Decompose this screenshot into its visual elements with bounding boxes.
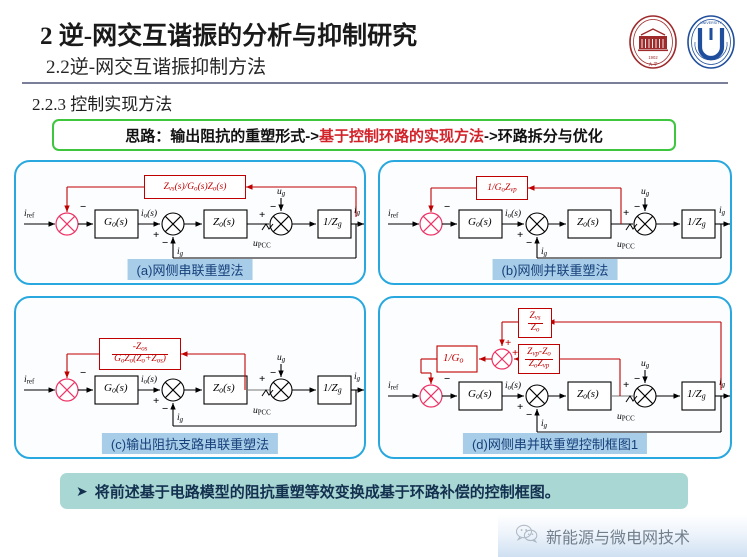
label-ug-b: ug [641,188,649,198]
section-heading: 2.2.3 控制实现方法 [32,90,172,115]
slide-root: 2 逆-网交互谐振的分析与抑制研究 2.2逆-网交互谐振抑制方法 [0,0,747,557]
sign-minus-b3: − [634,202,640,213]
diagram-panel-b: 1/GoZvp iref − Go(s) io(s) + − ig Zo(s) … [378,160,732,285]
caption-d: (d)网侧串并联重塑控制框图1 [463,433,647,454]
label-ig-c2: ig [354,373,360,383]
sign-plus-b2: + [623,208,629,219]
label-ig-a1: ig [177,248,183,258]
block-Go-d: Go(s) [468,389,492,401]
sign-plus-c1: + [153,396,159,407]
wechat-icon [516,524,538,548]
block-Zo-a: Zo(s) [213,217,235,229]
label-upcc-a: uPCC [253,240,271,250]
idea-prefix: 思路：输出阻抗的重塑形式-> [125,128,319,145]
sign-minus-d3: − [634,374,640,385]
label-upcc-b: uPCC [617,241,635,251]
label-iref-c: iref [24,376,34,386]
diagram-panel-c: -Zos GoZo(Zo+Zos) iref − Go(s) io(s) + −… [14,296,366,459]
university-emblem-blue-icon: UNIVERSITY [685,14,737,70]
block-invZg-b: 1/Zg [687,217,706,229]
label-io-d: io(s) [505,382,521,392]
sign-plus-a2: + [259,210,265,221]
block-Go-a: Go(s) [104,217,128,229]
conclusion-text: 将前述基于电路模型的阻抗重塑等效变换成基于环路补偿的控制框图。 [95,481,560,502]
sign-plus-c2: + [259,374,265,385]
sign-plus-d2: + [517,402,523,413]
formula-d2-fraction: Zvp-Zo ZoZvp [525,348,553,370]
sign-minus-a2: − [162,238,168,249]
sign-plus-d-right: + [512,348,518,359]
diagram-panel-a: Zvs(s)/Go(s)Zo(s) iref − Go(s) io(s) + −… [14,160,366,285]
block-Zo-b: Zo(s) [577,217,599,229]
idea-suffix: ->环路拆分与优化 [484,128,603,145]
label-ig-d2: ig [719,379,725,389]
sign-plus-d-top: + [505,338,511,349]
sign-minus-d1: − [444,374,450,385]
formula-d2-denominator: ZoZvp [525,360,553,370]
sign-minus-b2: − [526,238,532,249]
label-ig-a2: ig [354,207,360,217]
sign-plus-d3: + [623,380,629,391]
block-Zo-c: Zo(s) [213,383,235,395]
block-Go-b: Go(s) [468,217,492,229]
label-ig-d1: ig [541,420,547,430]
label-io-c: io(s) [141,376,157,386]
sign-minus-c2: − [162,404,168,415]
idea-highlight: 基于控制环路的实现方法 [319,128,484,145]
label-io-b: io(s) [505,210,521,220]
conclusion-bar: ➤ 将前述基于电路模型的阻抗重塑等效变换成基于环路补偿的控制框图。 [60,473,688,509]
formula-b-text: 1/GoZvp [487,183,516,194]
university-emblem-red-icon: 1902 大 学 [627,14,679,70]
sign-minus-b1: − [444,202,450,213]
label-iref-a: iref [24,210,34,220]
sign-minus-a1: − [80,202,86,213]
block-invZg-d: 1/Zg [687,389,706,401]
block-invZg-c: 1/Zg [323,383,342,395]
svg-text:1902: 1902 [648,55,658,60]
caption-c: (c)输出阻抗支路串联重塑法 [102,433,278,454]
label-upcc-c: uPCC [253,407,271,417]
formula-box-d1: Zvs Zo [518,308,552,338]
label-upcc-d: uPCC [617,413,635,423]
label-ig-b1: ig [541,248,547,258]
block-invGo-d: 1/Go [443,353,463,365]
slide-header: 2 逆-网交互谐振的分析与抑制研究 2.2逆-网交互谐振抑制方法 [0,0,747,92]
logo-group: 1902 大 学 UNIVERSITY [627,12,739,74]
caption-a: (a)网侧串联重塑法 [128,259,253,280]
formula-c-fraction: -Zos GoZo(Zo+Zos) [112,343,168,365]
footer-watermark: 新能源与微电网技术 [498,514,747,557]
page-title: 2 逆-网交互谐振的分析与抑制研究 [40,16,417,52]
formula-box-a: Zvs(s)/Go(s)Zo(s) [144,175,246,199]
diagram-panel-d: Zvs Zo Zvp-Zo ZoZvp 1/Go + + iref − Go(s… [378,296,732,459]
formula-c-denominator: GoZo(Zo+Zos) [112,355,168,365]
label-ug-a: ug [277,188,285,198]
wechat-account-name: 新能源与微电网技术 [546,524,690,548]
sign-minus-a3: − [270,202,276,213]
sign-plus-b1: + [517,230,523,241]
block-Go-c: Go(s) [104,383,128,395]
label-io-a: io(s) [141,210,157,220]
caption-b: (b)网侧并联重塑法 [493,259,618,280]
label-ug-d: ug [641,360,649,370]
idea-callout-box: 思路：输出阻抗的重塑形式->基于控制环路的实现方法->环路拆分与优化 [52,119,676,151]
sign-minus-c1: − [80,368,86,379]
sign-minus-d2: − [526,410,532,421]
sign-plus-a1: + [153,230,159,241]
formula-box-c: -Zos GoZo(Zo+Zos) [99,338,181,370]
formula-d1-denominator: Zo [528,324,543,334]
block-invZg-a: 1/Zg [323,217,342,229]
page-subtitle: 2.2逆-网交互谐振抑制方法 [46,52,266,79]
label-ig-c1: ig [177,414,183,424]
svg-text:UNIVERSITY: UNIVERSITY [700,21,722,25]
svg-text:大 学: 大 学 [648,61,657,67]
formula-a-text: Zvs(s)/Go(s)Zo(s) [164,182,227,193]
formula-box-b: 1/GoZvp [476,176,528,200]
label-iref-d: iref [388,382,398,392]
label-ig-b2: ig [719,207,725,217]
block-Zo-d: Zo(s) [577,389,599,401]
label-ug-c: ug [277,354,285,364]
formula-box-d2: Zvp-Zo ZoZvp [518,344,560,374]
header-divider [22,82,728,84]
sign-minus-c3: − [270,368,276,379]
label-iref-b: iref [388,210,398,220]
formula-d1-fraction: Zvs Zo [528,312,543,334]
idea-text: 思路：输出阻抗的重塑形式->基于控制环路的实现方法->环路拆分与优化 [125,125,603,146]
bullet-arrow-icon: ➤ [76,483,88,500]
